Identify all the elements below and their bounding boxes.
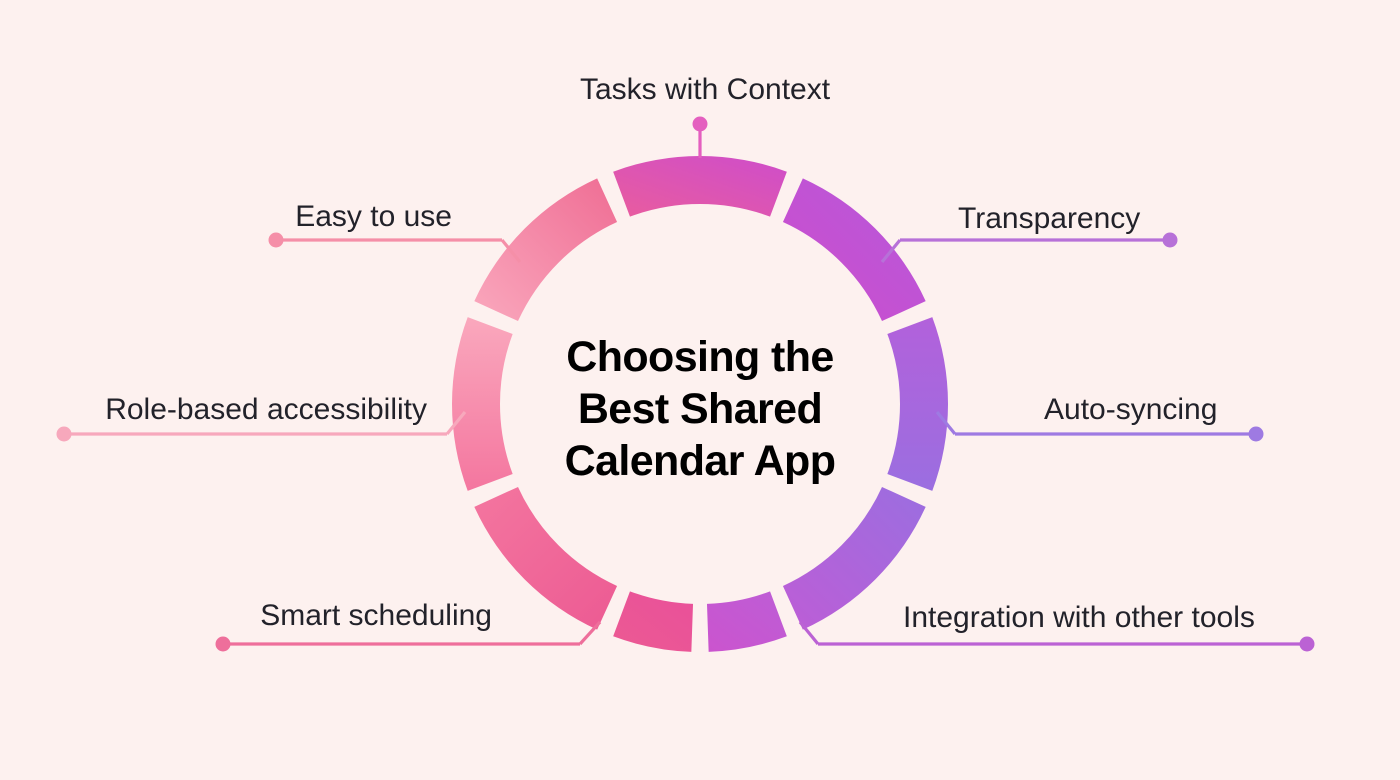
callout-label-transparency: Transparency <box>958 202 1140 235</box>
callout-dot <box>269 233 284 248</box>
center-title-line-2: Best Shared <box>578 385 822 433</box>
callout-tasks-with-context[interactable] <box>693 117 708 159</box>
donut-segment[interactable] <box>474 178 617 321</box>
callout-label-easy-to-use: Easy to use <box>295 200 452 233</box>
callout-transparency[interactable] <box>882 233 1178 263</box>
callout-label-role-based-accessibility: Role-based accessibility <box>105 393 427 426</box>
donut-segment[interactable] <box>474 487 617 630</box>
donut-segment[interactable] <box>707 591 787 652</box>
callout-label-integration-with-other-tools: Integration with other tools <box>903 601 1255 634</box>
center-title-line-3: Calendar App <box>565 437 836 485</box>
donut-segment[interactable] <box>783 178 926 321</box>
donut-segment[interactable] <box>887 317 948 491</box>
callout-dot <box>693 117 708 132</box>
center-title-group: Choosing the Best Shared Calendar App <box>565 333 836 485</box>
callout-label-tasks-with-context: Tasks with Context <box>580 73 831 106</box>
callout-dot <box>216 637 231 652</box>
callout-dot <box>1300 637 1315 652</box>
donut-segment[interactable] <box>452 317 513 491</box>
callout-easy-to-use[interactable] <box>269 233 521 263</box>
callout-dot <box>57 427 72 442</box>
callout-dot <box>1163 233 1178 248</box>
infographic-canvas: Tasks with ContextEasy to useRole-based … <box>0 0 1400 780</box>
center-title-line-1: Choosing the <box>566 333 834 381</box>
callout-dot <box>1249 427 1264 442</box>
callout-label-smart-scheduling: Smart scheduling <box>260 599 492 632</box>
callout-label-auto-syncing: Auto-syncing <box>1044 393 1217 426</box>
donut-segment[interactable] <box>613 591 693 652</box>
donut-segment[interactable] <box>613 156 787 217</box>
